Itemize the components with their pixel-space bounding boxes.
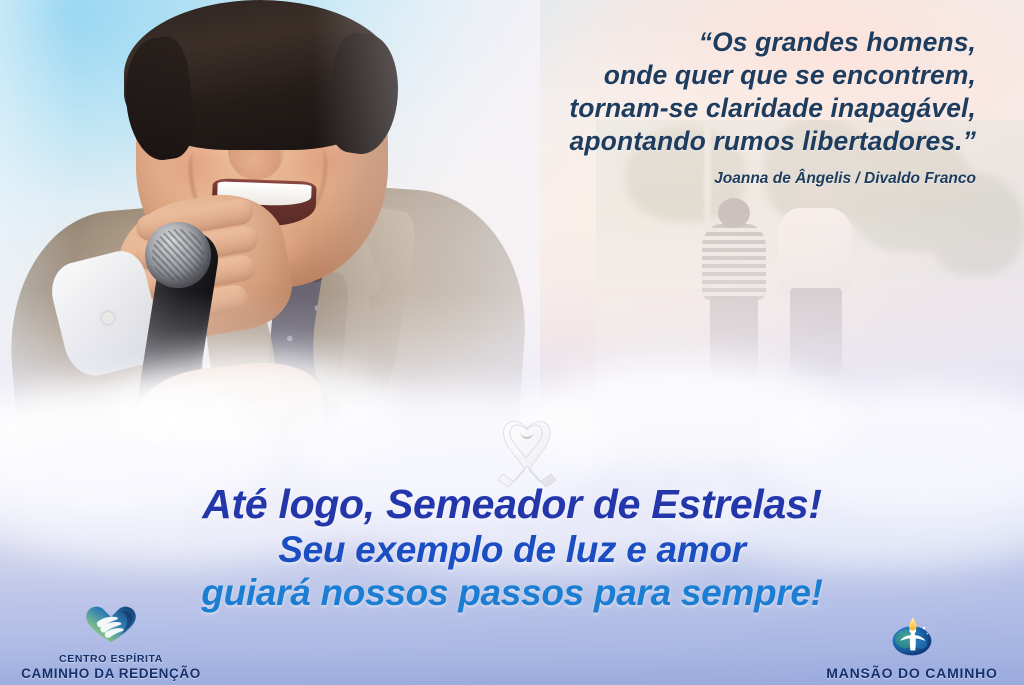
logo-left-text: CENTRO ESPÍRITA CAMINHO DA REDENÇÃO <box>21 653 201 681</box>
logo-left-line-1: CENTRO ESPÍRITA <box>21 653 201 665</box>
memorial-poster: “Os grandes homens, onde quer que se enc… <box>0 0 1024 685</box>
quote-line-3: tornam-se claridade inapagável, <box>416 92 976 125</box>
logo-centro-espirita[interactable]: CENTRO ESPÍRITA CAMINHO DA REDENÇÃO <box>16 603 206 681</box>
headline-line-1: Até logo, Semeador de Estrelas! <box>0 484 1024 525</box>
white-ribbon-icon <box>487 408 567 488</box>
quote-block: “Os grandes homens, onde quer que se enc… <box>416 26 976 188</box>
quote-attribution: Joanna de Ângelis / Divaldo Franco <box>416 170 976 188</box>
quote-line-2: onde quer que se encontrem, <box>416 59 976 92</box>
logo-left-line-2: CAMINHO DA REDENÇÃO <box>21 666 201 681</box>
headline-block: Até logo, Semeador de Estrelas! Seu exem… <box>0 484 1024 611</box>
quote-line-1: “Os grandes homens, <box>416 26 976 59</box>
headline-line-2: Seu exemplo de luz e amor <box>0 531 1024 568</box>
logo-mansao-do-caminho[interactable]: MANSÃO DO CAMINHO <box>812 615 1012 681</box>
heart-hands-icon <box>83 603 139 650</box>
logo-right-label: MANSÃO DO CAMINHO <box>826 665 997 681</box>
quote-line-4: apontando rumos libertadores.” <box>416 125 976 158</box>
globe-figure-flame-icon <box>886 615 938 662</box>
